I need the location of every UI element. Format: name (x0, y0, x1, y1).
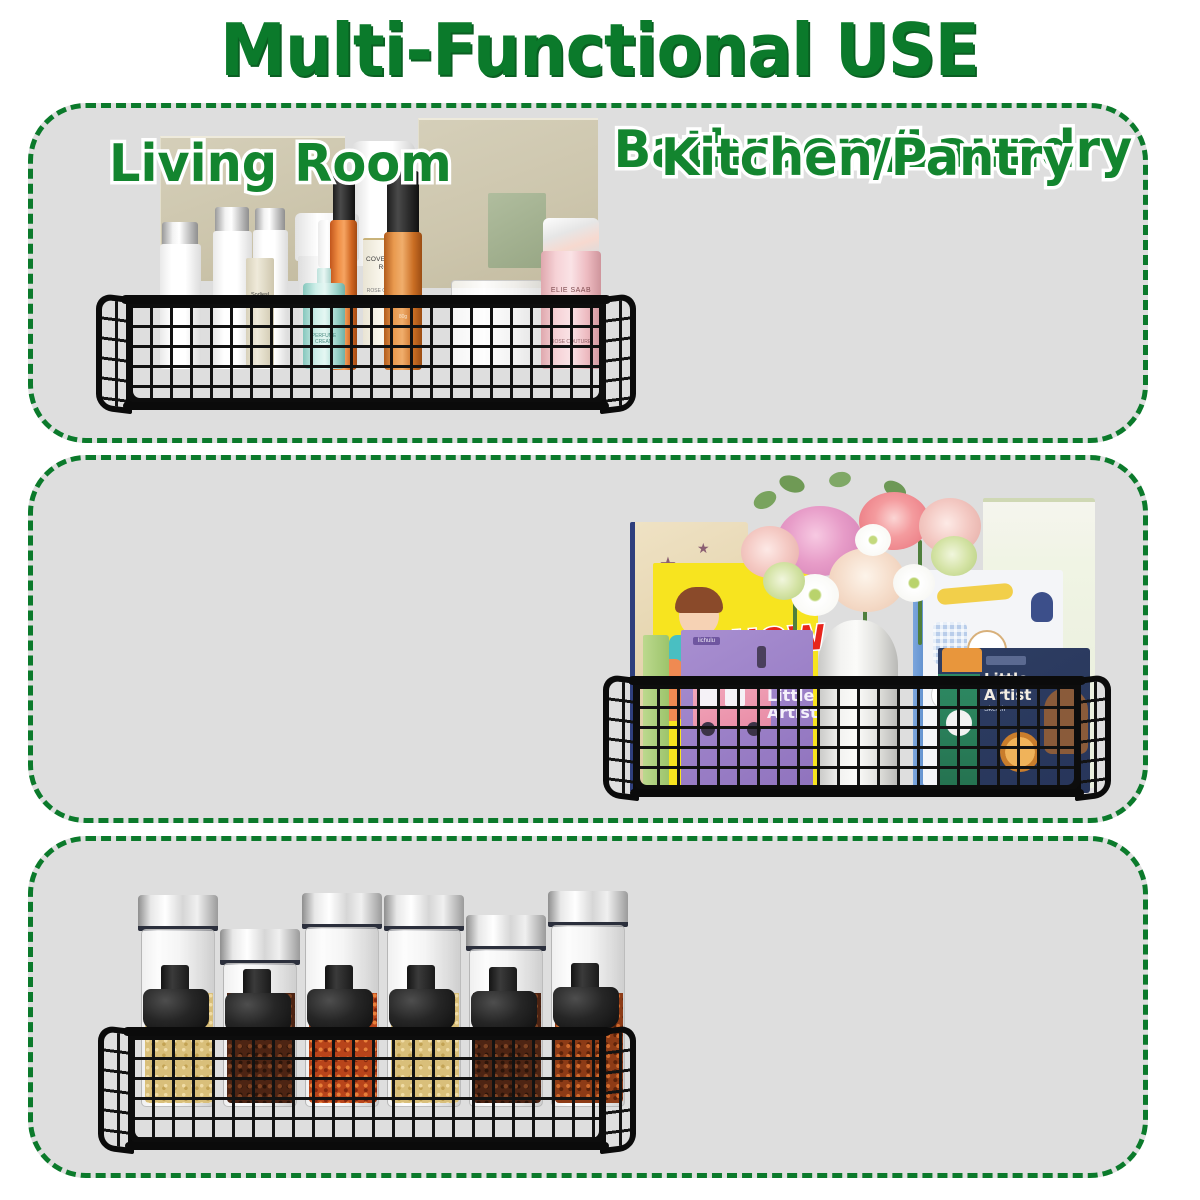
basket-rim-bottom (123, 402, 609, 410)
silver-cap-1 (162, 222, 198, 246)
white-daisy-2 (893, 564, 935, 602)
silver-cap-3 (255, 208, 285, 232)
little-artist-purple-brand: lichulu (693, 637, 720, 645)
basket-front-mesh (633, 682, 1081, 792)
orange-tab (942, 648, 982, 672)
eucalyptus-leaf-3 (828, 470, 853, 489)
wire-basket-kitchen (128, 1033, 606, 1145)
section-panel-kitchen (28, 836, 1148, 1178)
kitchen-basket-scene (33, 841, 1143, 1173)
basket-front-mesh (126, 301, 606, 405)
how-book-character-hair (675, 587, 723, 613)
little-artist-blue-brand (986, 656, 1026, 665)
spice-jar-6-spout (553, 987, 619, 1031)
star-glyph-2: ★ (697, 540, 710, 557)
spice-jar-4-lid (384, 895, 464, 931)
green-lisianthus-left (763, 562, 805, 600)
eucalyptus-leaf-2 (777, 472, 807, 495)
silver-cap-2 (215, 207, 249, 233)
spice-jar-5-lid (466, 915, 546, 951)
basket-rim-bottom (630, 789, 1084, 797)
title-bar: Multi-Functional USE (0, 0, 1200, 100)
perfume-crystal-cap (543, 218, 599, 254)
eucalyptus-leaf-1 (751, 487, 780, 512)
traffic-light-icon (757, 646, 766, 668)
section-panel-living-room: ★ ★ ★ ★ HOW (28, 455, 1148, 823)
basket-rim-top (121, 295, 611, 304)
page-title: Multi-Functional USE (220, 14, 979, 86)
spice-jar-3-lid (302, 893, 382, 929)
spice-jar-1-lid (138, 895, 218, 931)
basket-rim-top (123, 1027, 611, 1036)
basket-rim-bottom (125, 1142, 609, 1150)
section-label-kitchen: Kitchen/Pantry (661, 132, 1075, 184)
green-lisianthus-right (931, 536, 977, 576)
basket-rim-top (628, 676, 1086, 685)
living-room-basket-scene: ★ ★ ★ ★ HOW (33, 460, 1143, 818)
sticker-penguin (1031, 592, 1053, 622)
wire-basket-living-room (633, 682, 1081, 792)
spice-jar-2-lid (220, 929, 300, 965)
section-label-living-room: Living Room (109, 138, 452, 190)
basket-front-mesh (128, 1033, 606, 1145)
white-daisy-3 (855, 524, 891, 556)
sage-green-card (488, 193, 546, 268)
wire-basket-bathroom (126, 301, 606, 405)
spice-jar-6-lid (548, 891, 628, 927)
